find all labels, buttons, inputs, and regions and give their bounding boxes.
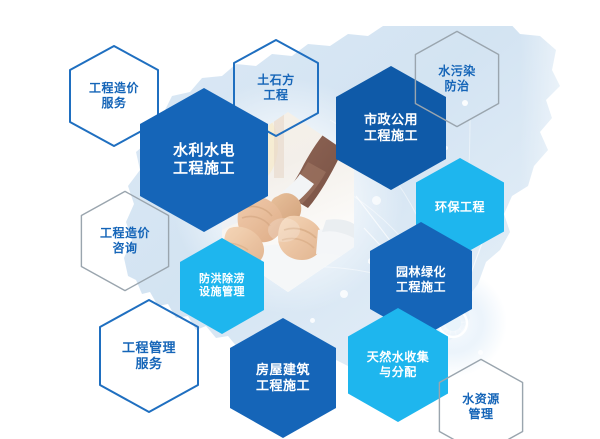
hex-building-construction-engineering[interactable]: 房屋建筑工程施工 xyxy=(230,318,336,438)
hex-engineering-management-service-label-line: 工程管理 xyxy=(122,340,176,356)
hex-water-resources-management-label-line: 管理 xyxy=(462,407,500,422)
hex-flood-control-drainage-facilities-label-line: 防洪除涝 xyxy=(199,273,245,286)
hex-natural-water-collection-distribution-label-line: 与分配 xyxy=(367,365,430,380)
hex-earthwork-engineering-label: 土石方工程 xyxy=(257,73,295,102)
hex-engineering-cost-consulting[interactable]: 工程造价咨询 xyxy=(80,190,170,292)
hex-environmental-protection-engineering-label: 环保工程 xyxy=(435,200,485,215)
hex-building-construction-engineering-label: 房屋建筑工程施工 xyxy=(256,362,310,394)
hex-water-resources-management[interactable]: 水资源管理 xyxy=(438,358,524,439)
hex-engineering-management-service[interactable]: 工程管理服务 xyxy=(98,298,200,414)
hex-earthwork-engineering-label-line: 工程 xyxy=(257,88,295,103)
hex-engineering-cost-consulting-label-line: 工程造价 xyxy=(100,226,150,241)
hex-water-pollution-control[interactable]: 水污染防治 xyxy=(414,30,500,128)
hex-engineering-cost-consulting-label: 工程造价咨询 xyxy=(100,226,150,255)
hex-flood-control-drainage-facilities-label: 防洪除涝设施管理 xyxy=(199,273,245,300)
bokeh-dot xyxy=(310,318,315,323)
hex-landscaping-engineering-construction-label-line: 园林绿化 xyxy=(396,265,446,280)
hex-engineering-cost-consulting-label-line: 咨询 xyxy=(100,241,150,256)
bokeh-dot xyxy=(340,290,348,298)
hex-building-construction-engineering-label-line: 工程施工 xyxy=(256,378,310,394)
hex-building-construction-engineering-label-line: 房屋建筑 xyxy=(256,362,310,378)
hex-landscaping-engineering-construction-label-line: 工程施工 xyxy=(396,280,446,295)
hex-engineering-management-service-label-line: 服务 xyxy=(122,356,176,372)
bokeh-dot xyxy=(490,268,496,274)
hex-water-conservancy-hydropower-construction-label-line: 工程施工 xyxy=(173,160,235,178)
diagram-canvas: 工程造价服务土石方工程水利水电工程施工市政公用工程施工水污染防治环保工程工程造价… xyxy=(0,0,600,439)
hex-water-pollution-control-label: 水污染防治 xyxy=(438,64,476,93)
hex-earthwork-engineering-label-line: 土石方 xyxy=(257,73,295,88)
hex-water-conservancy-hydropower-construction-label: 水利水电工程施工 xyxy=(173,142,235,179)
bokeh-dot xyxy=(372,196,381,205)
hex-municipal-public-works-construction-label-line: 工程施工 xyxy=(364,128,418,144)
hex-natural-water-collection-distribution-label-line: 天然水收集 xyxy=(367,350,430,365)
hex-water-resources-management-label: 水资源管理 xyxy=(462,392,500,421)
hex-engineering-cost-service-label-line: 服务 xyxy=(89,96,139,111)
hex-environmental-protection-engineering-label-line: 环保工程 xyxy=(435,200,485,215)
hex-flood-control-drainage-facilities-label-line: 设施管理 xyxy=(199,286,245,299)
hex-landscaping-engineering-construction-label: 园林绿化工程施工 xyxy=(396,265,446,294)
hex-municipal-public-works-construction-label: 市政公用工程施工 xyxy=(364,112,418,144)
hex-water-pollution-control-label-line: 水污染 xyxy=(438,64,476,79)
hex-water-resources-management-label-line: 水资源 xyxy=(462,392,500,407)
hex-municipal-public-works-construction-label-line: 市政公用 xyxy=(364,112,418,128)
bokeh-dot xyxy=(478,350,483,355)
hex-engineering-cost-service-label: 工程造价服务 xyxy=(89,81,139,110)
hex-water-conservancy-hydropower-construction-label-line: 水利水电 xyxy=(173,142,235,160)
hex-water-pollution-control-label-line: 防治 xyxy=(438,79,476,94)
hex-engineering-management-service-label: 工程管理服务 xyxy=(122,340,176,372)
hex-natural-water-collection-distribution-label: 天然水收集与分配 xyxy=(367,350,430,379)
hex-engineering-cost-service-label-line: 工程造价 xyxy=(89,81,139,96)
